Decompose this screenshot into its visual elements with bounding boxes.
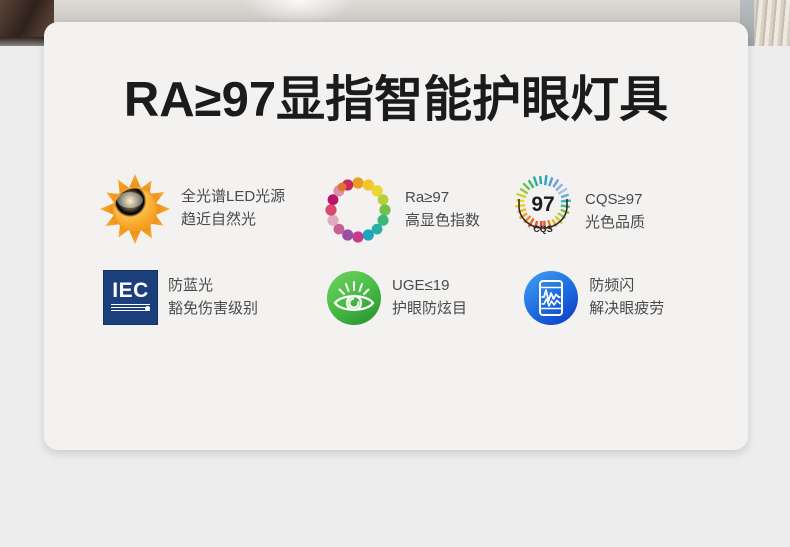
feature-label-line1: Ra≥97 [405, 187, 480, 210]
feature-label-line2: 豁免伤害级别 [168, 298, 258, 321]
anti-flicker-monitor-icon [523, 270, 579, 326]
feature-label: CQS≥97 光色品质 [585, 189, 645, 235]
feature-label: 全光谱LED光源 趋近自然光 [181, 186, 285, 232]
feature-item-anti-flicker: 防频闪 解决眼疲劳 [503, 270, 693, 326]
iec-dot [145, 306, 150, 311]
feature-label-line2: 高显色指数 [405, 210, 480, 233]
feature-label-line1: UGE≤19 [392, 275, 467, 298]
iec-logo-icon: IEC [103, 270, 158, 325]
page-title: RA≥97显指智能护眼灯具 [44, 22, 748, 125]
feature-label: 防频闪 解决眼疲劳 [589, 275, 664, 321]
feature-row: 全光谱LED光源 趋近自然光 [99, 172, 693, 252]
eye-protection-icon [326, 270, 382, 326]
feature-label-line1: CQS≥97 [585, 189, 645, 212]
sun-icon [99, 172, 171, 246]
feature-label: Ra≥97 高显色指数 [405, 187, 480, 233]
feature-item-glare: UGE≤19 护眼防炫目 [310, 270, 503, 326]
feature-item-cqs: 97 CQS CQS≥97 光色品质 [511, 172, 693, 252]
cqs-meter-label: CQS [533, 224, 553, 234]
feature-label-line2: 解决眼疲劳 [589, 298, 664, 321]
feature-label: UGE≤19 护眼防炫目 [392, 275, 467, 321]
feature-item-color-rendering: Ra≥97 高显色指数 [321, 172, 511, 248]
feature-label-line2: 护眼防炫目 [392, 298, 467, 321]
feature-label-line1: 防蓝光 [168, 275, 258, 298]
feature-card: RA≥97显指智能护眼灯具 [44, 22, 748, 450]
curtain-photo [750, 0, 790, 46]
feature-row: IEC 防蓝光 豁免伤害级别 [99, 270, 693, 326]
feature-item-blue-light: IEC 防蓝光 豁免伤害级别 [99, 270, 310, 325]
feature-grid: 全光谱LED光源 趋近自然光 [99, 172, 693, 326]
feature-label: 防蓝光 豁免伤害级别 [168, 275, 258, 321]
cqs-value: 97 [531, 193, 554, 216]
cqs-meter-icon: 97 CQS [511, 172, 575, 252]
color-wheel-icon [321, 172, 395, 248]
iec-logo-text: IEC [104, 279, 157, 303]
feature-label-line2: 光色品质 [585, 212, 645, 235]
feature-label-line1: 防频闪 [589, 275, 664, 298]
feature-label-line2: 趋近自然光 [181, 209, 285, 232]
feature-item-full-spectrum: 全光谱LED光源 趋近自然光 [99, 172, 321, 246]
feature-label-line1: 全光谱LED光源 [181, 186, 285, 209]
